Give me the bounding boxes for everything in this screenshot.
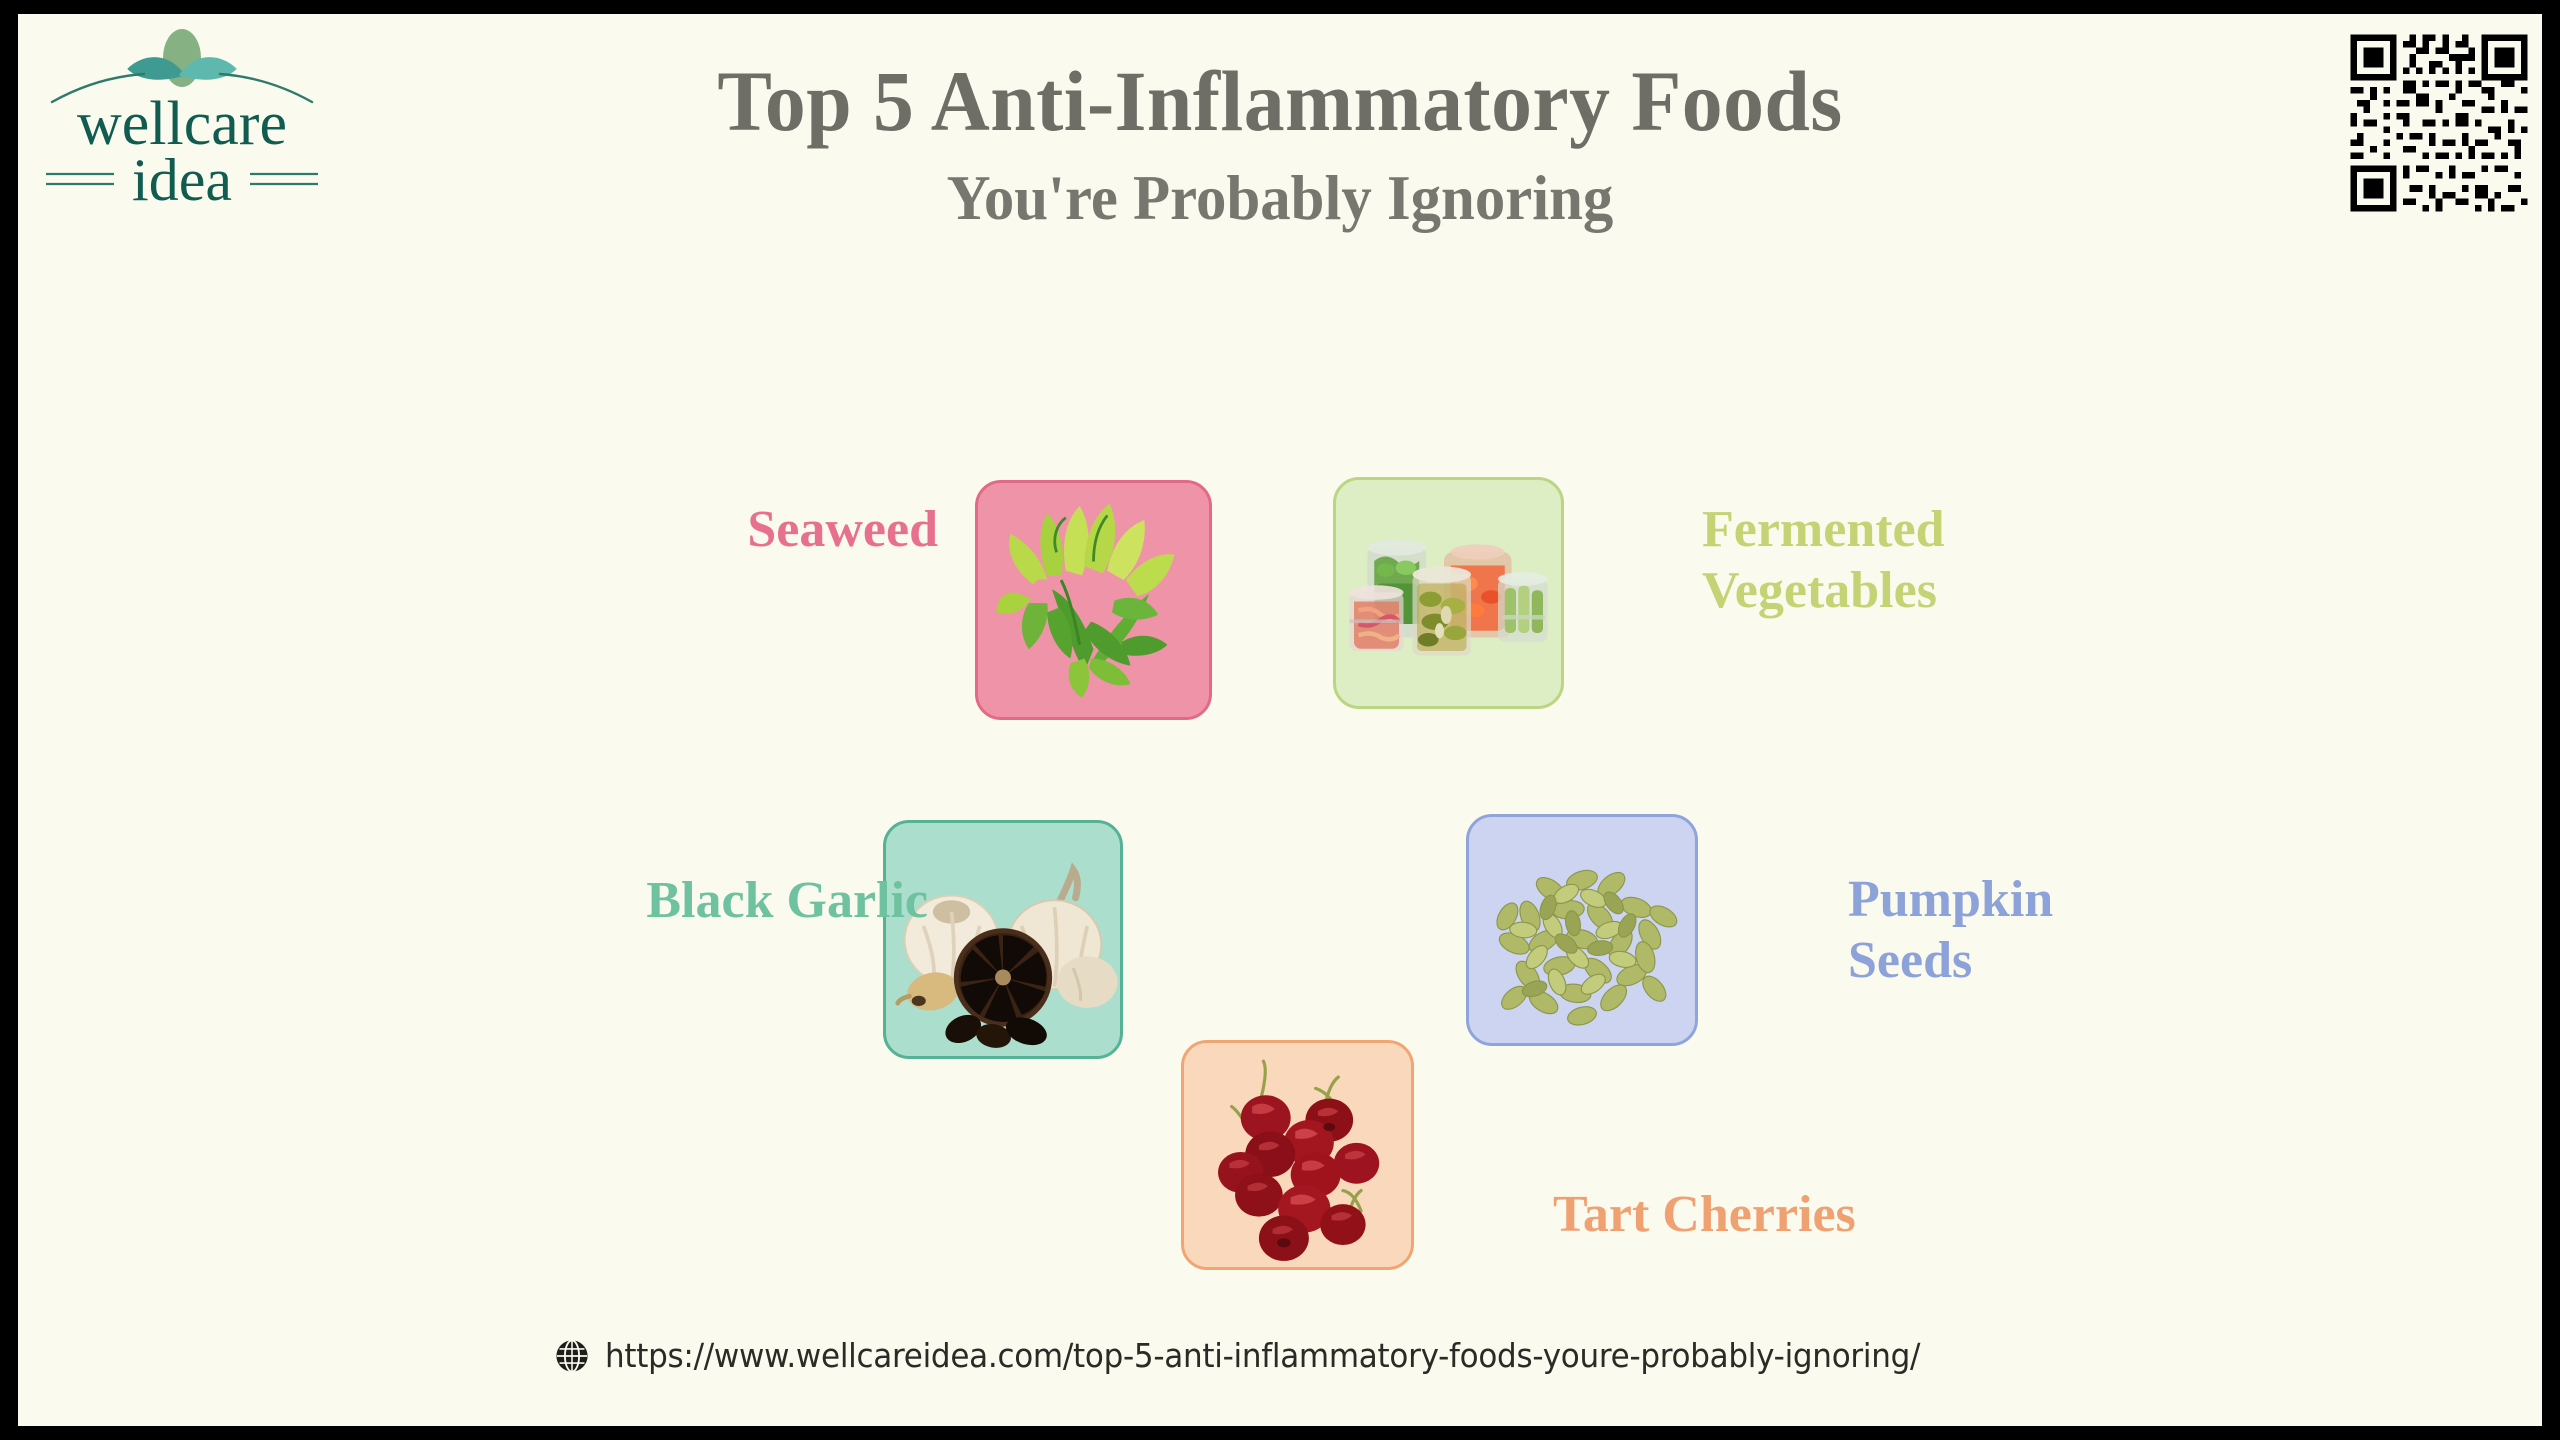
black-garlic-photo	[886, 823, 1120, 1057]
qr-code-icon[interactable]	[2344, 28, 2534, 218]
pumpkin-seeds-photo	[1469, 817, 1695, 1043]
food-label-tart-cherries: Tart Cherries	[1553, 1184, 2073, 1245]
food-label-seaweed: Seaweed	[458, 499, 938, 560]
brand-wordmark-line2: idea	[132, 147, 232, 212]
food-card-pumpkin-seeds[interactable]	[1466, 814, 1698, 1046]
infographic-sheet: wellcare idea	[18, 14, 2542, 1426]
food-card-fermented-vegetables[interactable]	[1333, 477, 1564, 709]
infographic-canvas: wellcare idea	[0, 0, 2560, 1440]
fermented-vegetables-photo	[1336, 480, 1561, 705]
food-card-tart-cherries[interactable]	[1181, 1040, 1414, 1270]
food-card-black-garlic[interactable]	[883, 820, 1123, 1059]
food-label-pumpkin-seeds: Pumpkin Seeds	[1848, 869, 2248, 992]
tart-cherries-photo	[1184, 1043, 1411, 1270]
footer-url-text[interactable]: https://www.wellcareidea.com/top-5-anti-…	[605, 1336, 1920, 1375]
three-leaf-icon	[126, 29, 238, 92]
brand-logo[interactable]: wellcare idea	[32, 22, 332, 212]
food-card-seaweed[interactable]	[975, 480, 1212, 720]
page-subtitle: You're Probably Ignoring	[81, 163, 2479, 233]
footer-link[interactable]: https://www.wellcareidea.com/top-5-anti-…	[18, 1336, 2542, 1375]
title-block: Top 5 Anti-Inflammatory Foods You're Pro…	[18, 56, 2542, 234]
page-title: Top 5 Anti-Inflammatory Foods	[81, 56, 2479, 147]
food-label-fermented-vegetables: Fermented Vegetables	[1702, 499, 2132, 622]
food-label-black-garlic: Black Garlic	[298, 870, 928, 931]
seaweed-photo	[978, 483, 1209, 714]
globe-icon	[555, 1339, 589, 1373]
